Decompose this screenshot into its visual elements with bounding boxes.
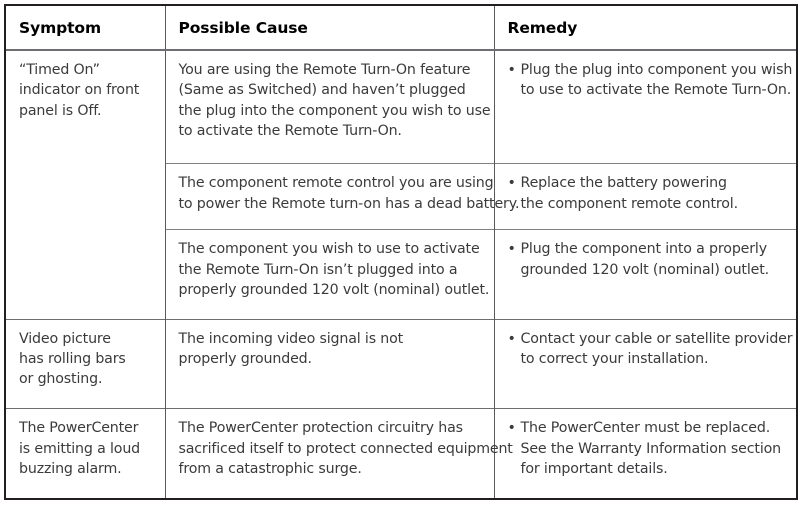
remedy-line: Plug the component into a properly	[521, 239, 785, 259]
table-row: The PowerCenter is emitting a loud buzzi…	[6, 409, 796, 498]
cause-line: You are using the Remote Turn-On feature	[179, 60, 482, 80]
troubleshooting-table-frame: Symptom Possible Cause Remedy “Timed On”…	[4, 4, 798, 500]
symptom-line: “Timed On”	[19, 60, 153, 80]
table-body: “Timed On” indicator on front panel is O…	[6, 50, 796, 498]
remedy-line: The PowerCenter must be replaced.	[521, 418, 785, 438]
remedy-line: Plug the plug into component you wish	[521, 60, 785, 80]
symptom-cell: The PowerCenter is emitting a loud buzzi…	[6, 409, 165, 498]
cause-line: sacrificed itself to protect connected e…	[179, 439, 482, 459]
symptom-line: The PowerCenter	[19, 418, 153, 438]
cause-line: the Remote Turn-On isn’t plugged into a	[179, 260, 482, 280]
remedy-line: See the Warranty Information section	[521, 439, 785, 459]
cause-line: to activate the Remote Turn-On.	[179, 121, 482, 141]
cause-cell: The incoming video signal is not properl…	[165, 319, 494, 409]
cause-cell: The PowerCenter protection circuitry has…	[165, 409, 494, 498]
bullet-icon: •	[508, 418, 516, 438]
cause-cell: You are using the Remote Turn-On feature…	[165, 50, 494, 164]
remedy-list: • Plug the component into a properly gro…	[508, 239, 785, 280]
remedy-line: the component remote control.	[521, 194, 785, 214]
symptom-line: is emitting a loud	[19, 439, 153, 459]
symptom-line: indicator on front	[19, 80, 153, 100]
remedy-cell: • Contact your cable or satellite provid…	[494, 319, 796, 409]
header-row: Symptom Possible Cause Remedy	[6, 6, 796, 50]
remedy-line: grounded 120 volt (nominal) outlet.	[521, 260, 785, 280]
cause-cell: The component you wish to use to activat…	[165, 230, 494, 320]
cause-line: (Same as Switched) and haven’t plugged	[179, 80, 482, 100]
list-item: • Replace the battery powering the compo…	[508, 173, 785, 214]
remedy-line: for important details.	[521, 459, 785, 479]
symptom-line: has rolling bars	[19, 349, 153, 369]
symptom-line: buzzing alarm.	[19, 459, 153, 479]
bullet-icon: •	[508, 239, 516, 259]
cause-line: The component remote control you are usi…	[179, 173, 482, 193]
column-header-remedy: Remedy	[494, 6, 796, 50]
table-header: Symptom Possible Cause Remedy	[6, 6, 796, 50]
remedy-line: Contact your cable or satellite provider	[521, 329, 785, 349]
remedy-list: • The PowerCenter must be replaced. See …	[508, 418, 785, 479]
list-item: • Plug the plug into component you wish …	[508, 60, 785, 101]
bullet-icon: •	[508, 173, 516, 193]
remedy-cell: • Plug the component into a properly gro…	[494, 230, 796, 320]
bullet-icon: •	[508, 329, 516, 349]
cause-line: properly grounded 120 volt (nominal) out…	[179, 280, 482, 300]
symptom-line: or ghosting.	[19, 369, 153, 389]
remedy-cell: • Plug the plug into component you wish …	[494, 50, 796, 164]
remedy-line: to use to activate the Remote Turn-On.	[521, 80, 785, 100]
remedy-list: • Contact your cable or satellite provid…	[508, 329, 785, 370]
cause-line: The incoming video signal is not	[179, 329, 482, 349]
list-item: • Contact your cable or satellite provid…	[508, 329, 785, 370]
cause-line: the plug into the component you wish to …	[179, 101, 482, 121]
list-item: • Plug the component into a properly gro…	[508, 239, 785, 280]
cause-line: from a catastrophic surge.	[179, 459, 482, 479]
table-row: “Timed On” indicator on front panel is O…	[6, 50, 796, 164]
list-item: • The PowerCenter must be replaced. See …	[508, 418, 785, 479]
cause-line: The component you wish to use to activat…	[179, 239, 482, 259]
bullet-icon: •	[508, 60, 516, 80]
column-header-possible-cause: Possible Cause	[165, 6, 494, 50]
troubleshooting-table: Symptom Possible Cause Remedy “Timed On”…	[6, 6, 796, 498]
symptom-line: Video picture	[19, 329, 153, 349]
cause-line: to power the Remote turn-on has a dead b…	[179, 194, 482, 214]
remedy-list: • Replace the battery powering the compo…	[508, 173, 785, 214]
table-row: Video picture has rolling bars or ghosti…	[6, 319, 796, 409]
remedy-list: • Plug the plug into component you wish …	[508, 60, 785, 101]
symptom-line: panel is Off.	[19, 101, 153, 121]
remedy-line: Replace the battery powering	[521, 173, 785, 193]
symptom-cell: “Timed On” indicator on front panel is O…	[6, 50, 165, 319]
cause-cell: The component remote control you are usi…	[165, 164, 494, 230]
cause-line: The PowerCenter protection circuitry has	[179, 418, 482, 438]
column-header-symptom: Symptom	[6, 6, 165, 50]
remedy-cell: • The PowerCenter must be replaced. See …	[494, 409, 796, 498]
cause-line: properly grounded.	[179, 349, 482, 369]
remedy-cell: • Replace the battery powering the compo…	[494, 164, 796, 230]
remedy-line: to correct your installation.	[521, 349, 785, 369]
symptom-cell: Video picture has rolling bars or ghosti…	[6, 319, 165, 409]
